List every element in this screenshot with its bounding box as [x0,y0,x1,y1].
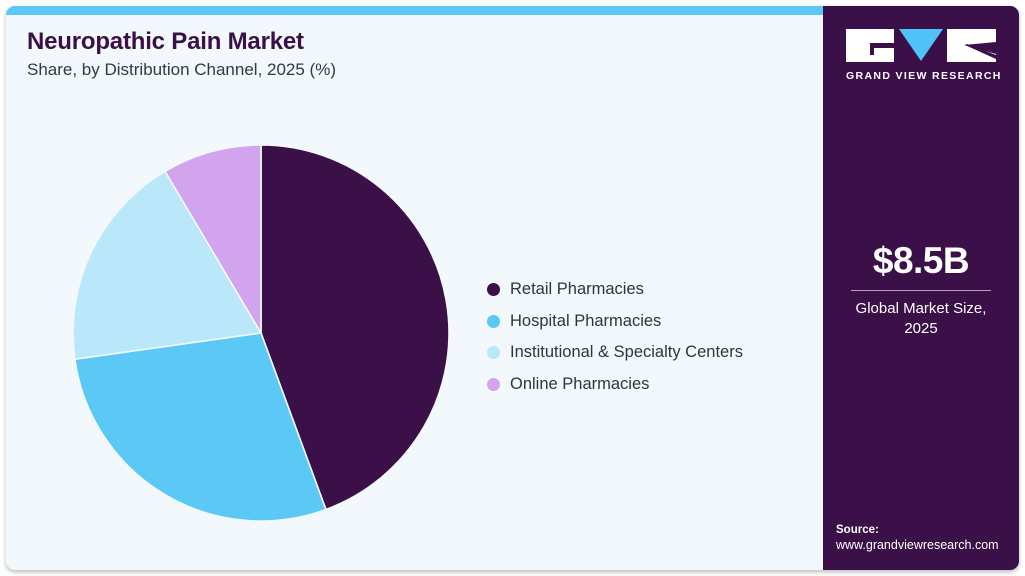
logo-caption: GRAND VIEW RESEARCH [846,70,996,82]
legend-swatch-icon [487,346,500,359]
page-title: Neuropathic Pain Market [27,28,304,56]
legend-swatch-icon [487,378,500,391]
pie-slice-group [73,145,449,521]
source-block: Source: www.grandviewresearch.com [836,524,1016,552]
stat-divider [851,290,991,291]
legend-item-institutional-specialty-centers[interactable]: Institutional & Specialty Centers [487,337,807,369]
grand-view-research-logo: GRAND VIEW RESEARCH [846,28,996,82]
page-subtitle: Share, by Distribution Channel, 2025 (%) [27,60,336,80]
pie-chart [73,145,449,521]
legend-label: Institutional & Specialty Centers [510,343,743,362]
market-size-value: $8.5B [823,242,1019,281]
chart-legend: Retail Pharmacies Hospital Pharmacies In… [487,274,807,400]
source-url[interactable]: www.grandviewresearch.com [836,538,1016,552]
legend-swatch-icon [487,315,500,328]
legend-swatch-icon [487,283,500,296]
source-title: Source: [836,524,1016,536]
legend-label: Hospital Pharmacies [510,312,661,331]
brand-side-panel: GRAND VIEW RESEARCH $8.5B Global Market … [823,6,1019,570]
legend-item-hospital-pharmacies[interactable]: Hospital Pharmacies [487,306,807,338]
legend-item-online-pharmacies[interactable]: Online Pharmacies [487,369,807,401]
legend-label: Retail Pharmacies [510,280,644,299]
chart-card: Neuropathic Pain Market Share, by Distri… [6,6,1019,570]
logo-marks [846,28,996,63]
pie-chart-svg [73,145,449,521]
market-size-label: Global Market Size, 2025 [823,299,1019,339]
market-size-stat: $8.5B Global Market Size, 2025 [823,242,1019,339]
legend-label: Online Pharmacies [510,375,649,394]
legend-item-retail-pharmacies[interactable]: Retail Pharmacies [487,274,807,306]
gvr-logo-icon [846,28,996,63]
chart-canvas: Neuropathic Pain Market Share, by Distri… [0,0,1025,576]
